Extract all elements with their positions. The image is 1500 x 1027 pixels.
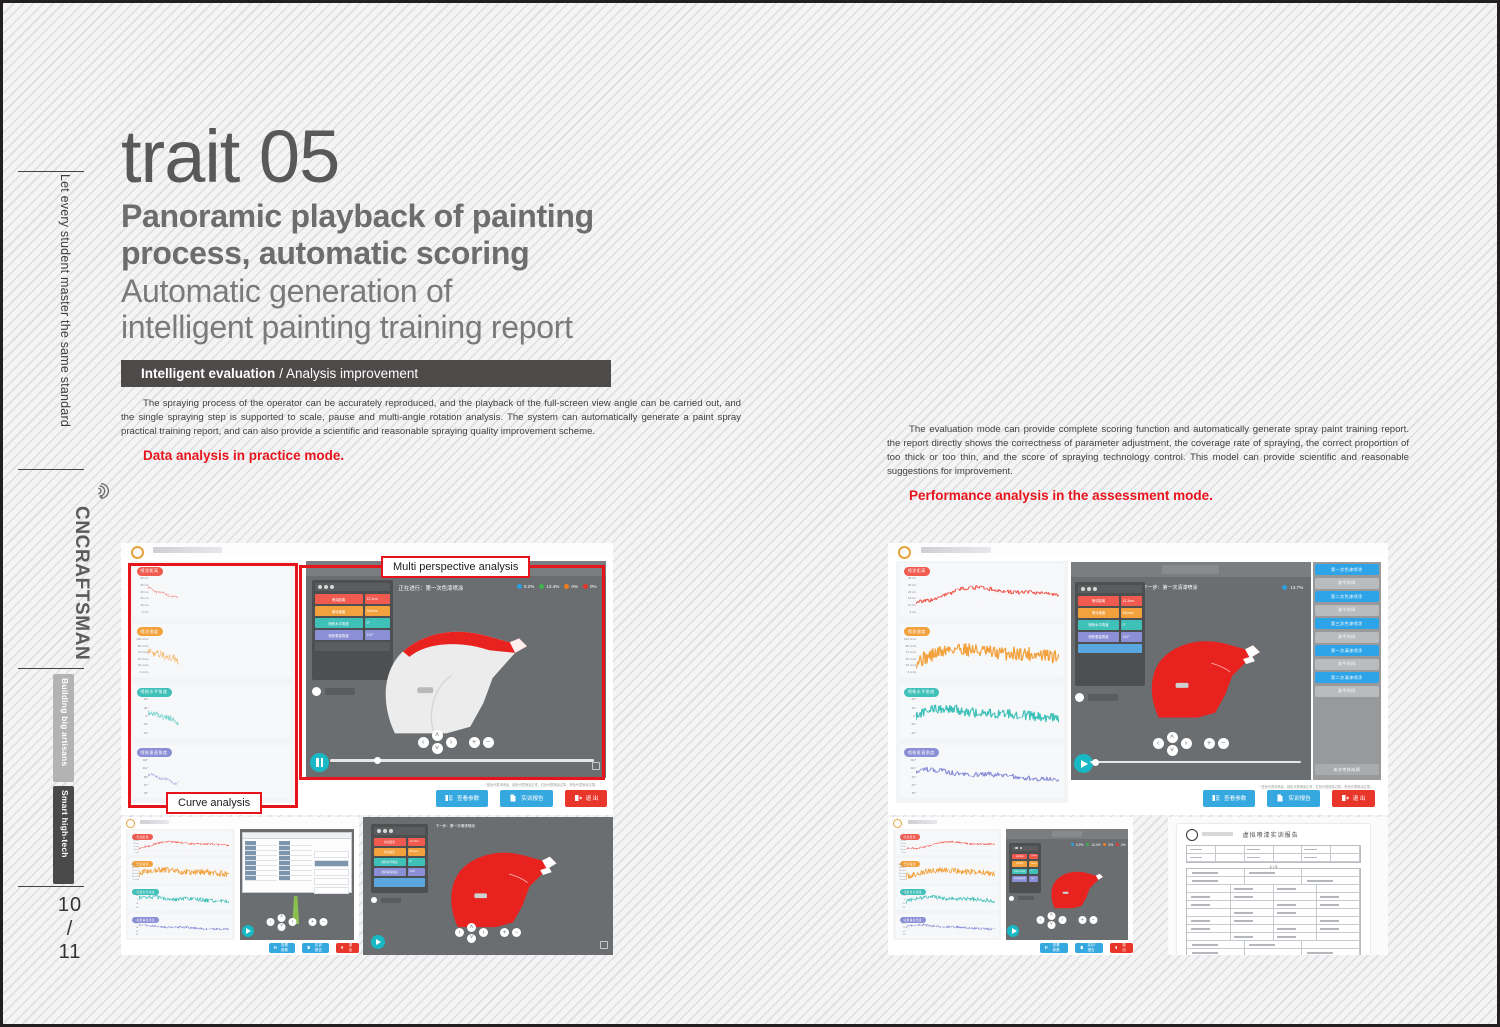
exit-icon [574, 794, 582, 802]
report-cell [1302, 854, 1331, 861]
panel-rows: 喷涂距离12.3cm喷涂速度60cm/s喷枪水平角度0°喷枪垂直角度102° [1012, 854, 1038, 882]
y-tick: 67° [130, 931, 139, 933]
parameter-key: 喷涂速度 [374, 848, 406, 856]
y-tick: 0 cm/s [130, 879, 139, 881]
y-tick: 15 cm [901, 596, 916, 600]
rotate-right-icon: › [1181, 738, 1192, 749]
report-cell [1302, 941, 1359, 948]
curve-panel-2: 喷枪水平角度40°20°0°-20°-40° [900, 685, 1064, 738]
curve-panel-label: 喷枪垂直角度 [904, 748, 939, 757]
step-button[interactable]: 流平时间 [1315, 578, 1379, 589]
parameter-row: 喷枪垂直角度102° [1012, 876, 1038, 882]
document-icon [307, 945, 310, 950]
report-row [1187, 941, 1359, 949]
curve-panel-3: 喷枪垂直角度110°112°90°67°45° [896, 914, 998, 938]
curve-y-axis: 40°20°0°-20°-40° [901, 697, 916, 734]
step-button[interactable]: 第一次清漆喷涂 [1315, 645, 1379, 656]
parameter-key: 喷涂距离 [1078, 596, 1118, 606]
play-button[interactable] [1074, 754, 1093, 773]
y-tick: 45° [901, 791, 916, 795]
report-cell [1231, 885, 1274, 892]
car-fender-model-painted[interactable] [428, 828, 573, 938]
exit-icon [1115, 945, 1118, 950]
report-cell [1231, 909, 1274, 916]
y-tick: 100 cm/s [130, 864, 139, 866]
report-cell [1317, 893, 1360, 900]
report-logo-icon [1186, 829, 1198, 841]
sidebar-badges: Building big artisans Smart high-tech [53, 674, 83, 888]
list-icon [445, 794, 453, 802]
step-button[interactable]: 流平时间 [1315, 686, 1379, 697]
parameter-key: 喷枪垂直角度 [1012, 876, 1027, 882]
play-button[interactable] [371, 935, 385, 949]
app-logo-icon [131, 546, 144, 559]
curve-panel-1: 喷涂速度100 cm/s80 cm/s70 cm/s50 cm/s20 cm/s… [896, 858, 998, 882]
report-cell [1245, 877, 1302, 884]
y-tick: 0° [130, 899, 139, 901]
rotate-left-icon: ‹ [1036, 916, 1044, 924]
y-tick: 20° [130, 895, 139, 897]
curve-y-axis: 110°112°90°67°45° [130, 919, 139, 936]
action-button-bar-practice[interactable]: 查看参数 实训报告 退 出 [436, 790, 608, 807]
report-row [1187, 909, 1359, 917]
viewer-footnote: * 蓝色代表未喷涂，绿色代表喷涂正常，红色代表喷涂过厚，黄色代表喷涂过薄。 [485, 782, 599, 787]
callout-multi-perspective: Multi perspective analysis [381, 556, 530, 578]
screenshot-assessment-thumb[interactable]: 喷涂距离30 cm25 cm20 cm15 cm10 cm5 cm喷涂速度100… [888, 817, 1133, 955]
app-titlebar [121, 817, 359, 828]
zoom-out-icon: − [512, 928, 521, 937]
highlight-box-viewer [299, 565, 605, 780]
y-tick: 70 cm/s [897, 870, 906, 872]
curve-analysis-panel[interactable]: 喷涂距离30 cm25 cm20 cm15 cm10 cm5 cm喷涂速度100… [126, 829, 235, 939]
table-row [314, 860, 349, 867]
report-cell [1187, 846, 1216, 853]
list-icon [1212, 794, 1220, 802]
zoom-in-icon: + [1204, 738, 1215, 749]
y-tick: 50 cm/s [130, 873, 139, 875]
exit-button[interactable]: 退 出 [1332, 790, 1375, 807]
headline-bold-line-1: Panoramic playback of painting [121, 198, 741, 235]
viewer-rotate-controls[interactable]: ‹ ˄ ˅ › + − [1153, 732, 1229, 756]
viewer-toolbar-title [1162, 565, 1220, 574]
screenshot-practice-mode[interactable]: 喷涂距离30 cm25 cm20 cm15 cm10 cm5 cm喷涂速度100… [121, 543, 613, 815]
page-divider: / [50, 918, 90, 942]
report-row [1187, 933, 1359, 941]
y-tick: 90° [130, 927, 139, 929]
screenshot-training-report[interactable]: 虚拟喷漆实训报告 1 / 5 [1168, 817, 1388, 955]
left-column: trait 05 Panoramic playback of painting … [121, 121, 741, 463]
report-row [1187, 949, 1359, 955]
curve-y-axis: 110°112°90°67°45° [897, 919, 906, 936]
curve-panel-0: 喷涂距离30 cm25 cm20 cm15 cm10 cm5 cm [900, 564, 1064, 617]
curve-analysis-panel[interactable]: 喷涂距离30 cm25 cm20 cm15 cm10 cm5 cm喷涂速度100… [893, 829, 1001, 939]
report-title: 虚拟喷漆实训报告 [1243, 830, 1299, 839]
section-banner: Intelligent evaluation / Analysis improv… [121, 360, 611, 387]
curve-panel-label: 喷枪水平角度 [904, 688, 939, 697]
document-icon [509, 794, 517, 802]
y-tick: 80 cm/s [897, 867, 906, 869]
rotate-left-icon: ‹ [267, 918, 275, 926]
report-cell [1231, 933, 1274, 940]
coverage-value: 13.7% [1290, 585, 1303, 590]
y-tick: 0 cm/s [897, 879, 906, 881]
y-tick: 0° [897, 899, 906, 901]
y-tick: 67° [901, 783, 916, 787]
report-cell [1187, 949, 1244, 955]
curve-plot [906, 865, 995, 881]
y-tick: 30 cm [130, 837, 139, 839]
curve-panel-label: 喷涂速度 [904, 627, 930, 636]
viewer-footnote: * 蓝色代表未喷涂，绿色代表喷涂正常，红色代表喷涂过厚，黄色代表喷涂过薄。 [1259, 784, 1373, 789]
report-cell [1302, 877, 1359, 884]
parameter-table-overlay[interactable] [242, 832, 352, 894]
report-detail-table [1186, 868, 1360, 955]
banner-rest: / Analysis improvement [279, 366, 418, 381]
parameter-value: 60cm/s [1029, 861, 1038, 867]
button-label: 查看参数 [457, 794, 479, 802]
parameter-row: 喷枪垂直角度102° [374, 868, 426, 876]
report-cell [1187, 933, 1230, 940]
exit-icon [1341, 794, 1349, 802]
rotate-up-icon: ˄ [278, 914, 286, 922]
headline-bold-line-2: process, automatic scoring [121, 235, 741, 272]
parameter-value: 12.3cm [1029, 854, 1038, 860]
table-row [314, 869, 349, 876]
report-cell [1317, 909, 1360, 916]
parameter-value: 102° [1029, 876, 1038, 882]
play-button[interactable] [1007, 925, 1019, 937]
table-row [314, 887, 349, 894]
curve-y-axis: 40°20°0°-20°-40° [130, 892, 139, 909]
page-number: 10 / 11 [50, 894, 90, 965]
y-tick: 10 cm [901, 603, 916, 607]
document-icon [1080, 945, 1084, 950]
curve-plot [916, 759, 1059, 794]
y-tick: 20° [897, 895, 906, 897]
3d-viewer-thumb[interactable]: 喷涂距离12.3cm喷涂速度60cm/s喷枪水平角度0°喷枪垂直角度102° 0… [1006, 829, 1129, 939]
curve-panel-1: 喷涂速度100 cm/s80 cm/s70 cm/s50 cm/s20 cm/s… [128, 858, 232, 882]
report-cell [1274, 909, 1317, 916]
sidebar-divider [18, 171, 84, 172]
curve-plot [906, 892, 995, 908]
table-row [279, 876, 311, 881]
rotate-down-icon: ˅ [1167, 745, 1178, 756]
curve-plot [139, 837, 229, 853]
y-tick: 15 cm [897, 846, 906, 848]
app-title [153, 547, 222, 552]
brand-block: CNCRAFTSMAN [46, 476, 92, 686]
rotate-up-icon: ˄ [1047, 912, 1055, 920]
view-parameters-button[interactable]: 查看参数 [1040, 943, 1068, 953]
y-tick: 80 cm/s [901, 644, 916, 648]
screenshot-assessment-mode[interactable]: 喷涂距离30 cm25 cm20 cm15 cm10 cm5 cm喷涂速度100… [888, 543, 1388, 815]
rotate-right-icon: › [289, 918, 297, 926]
step-button[interactable]: 流平时间 [1315, 659, 1379, 670]
curve-y-axis: 40°20°0°-20°-40° [897, 892, 906, 909]
sidebar-slogan: Let every student master the same standa… [58, 174, 72, 427]
poster-page: Let every student master the same standa… [0, 0, 1500, 1027]
step-button[interactable]: 第二次色漆喷涂 [1315, 591, 1379, 602]
parameter-key: 喷枪水平角度 [374, 858, 406, 866]
zoom-out-icon: − [1218, 738, 1229, 749]
report-row [1187, 854, 1359, 862]
fullscreen-icon[interactable] [600, 941, 608, 949]
report-cell [1245, 854, 1274, 861]
report-row [1187, 869, 1359, 877]
view-parameters-button[interactable]: 查看参数 [1203, 790, 1255, 807]
y-tick: 10 cm [130, 849, 139, 851]
report-cell [1231, 893, 1274, 900]
y-tick: 80 cm/s [130, 867, 139, 869]
y-tick: 0 cm/s [901, 670, 916, 674]
viewer-coverage-badge: 13.7% [1282, 585, 1303, 590]
y-tick: -20° [130, 903, 139, 905]
screenshot-parameter-table[interactable]: 喷涂距离30 cm25 cm20 cm15 cm10 cm5 cm喷涂速度100… [121, 817, 359, 955]
parameter-key: 喷涂距离 [374, 838, 406, 846]
y-tick: -40° [897, 907, 906, 909]
page-current: 10 [50, 894, 90, 918]
zoom-out-icon: − [320, 918, 328, 926]
scrubber-knob[interactable] [1092, 759, 1099, 766]
step-button[interactable]: 流平时间 [1315, 605, 1379, 616]
y-tick: 20 cm [130, 843, 139, 845]
swirl-logo-icon [90, 480, 112, 502]
exit-button[interactable]: 退 出 [1110, 943, 1133, 953]
button-label: 退 出 [1353, 794, 1366, 802]
rotate-down-icon: ˅ [1047, 921, 1055, 929]
badge-label: Building big artisans [60, 678, 70, 766]
y-tick: 67° [897, 931, 906, 933]
report-cell [1187, 877, 1244, 884]
report-cell [1187, 854, 1216, 861]
zoom-in-icon: + [1078, 916, 1086, 924]
step-button[interactable]: 第三次色漆喷涂 [1315, 618, 1379, 629]
zoom-in-icon: + [500, 928, 509, 937]
report-cell [1245, 846, 1274, 853]
app-title [921, 547, 991, 552]
curve-y-axis: 100 cm/s80 cm/s70 cm/s50 cm/s20 cm/s0 cm… [897, 864, 906, 881]
list-icon [1045, 945, 1049, 950]
curve-plot [139, 892, 229, 908]
report-cell [1274, 893, 1317, 900]
rotate-left-icon: ‹ [455, 928, 464, 937]
training-report-button[interactable]: 实训报告 [302, 943, 329, 953]
app-titlebar [888, 543, 1388, 558]
report-row [1187, 885, 1359, 893]
report-cell [1231, 917, 1274, 924]
y-tick: 40° [901, 697, 916, 701]
report-cell [1274, 846, 1303, 853]
report-row [1187, 917, 1359, 925]
parameter-row: 喷涂速度60cm/s [374, 848, 426, 856]
page-total: 11 [50, 941, 90, 965]
parameter-row: 喷涂距离12.3cm [1012, 854, 1038, 860]
rotate-down-icon: ˅ [467, 934, 476, 943]
report-document[interactable]: 虚拟喷漆实训报告 1 / 5 [1177, 824, 1371, 955]
report-row [1187, 893, 1359, 901]
report-cell [1187, 925, 1230, 932]
report-row [1187, 901, 1359, 909]
y-tick: -40° [130, 907, 139, 909]
report-cell [1331, 846, 1360, 853]
y-tick: 45° [897, 934, 906, 936]
y-tick: 5 cm [897, 852, 906, 854]
parameter-row: 喷枪水平角度0° [374, 858, 426, 866]
curve-panel-1: 喷涂速度100 cm/s80 cm/s70 cm/s50 cm/s20 cm/s… [900, 624, 1064, 677]
parameter-key: 喷涂距离 [1012, 854, 1027, 860]
report-cell [1302, 846, 1331, 853]
report-cell [1216, 854, 1245, 861]
report-cell [1317, 925, 1360, 932]
table-row [314, 851, 349, 858]
play-button[interactable] [242, 925, 254, 937]
report-cell [1274, 925, 1317, 932]
curve-plot [916, 698, 1059, 733]
curve-y-axis: 110°112°90°67°45° [901, 758, 916, 795]
rotate-right-icon: › [479, 928, 488, 937]
app-titlebar [121, 543, 613, 558]
button-label: 实训报告 [1288, 794, 1310, 802]
report-cell [1302, 949, 1359, 955]
parameter-key: 喷枪垂直角度 [1078, 632, 1118, 642]
button-label: 退 出 [586, 794, 599, 802]
y-tick: 30 cm [897, 837, 906, 839]
curve-y-axis: 30 cm25 cm20 cm15 cm10 cm5 cm [901, 576, 916, 613]
report-cell [1317, 885, 1360, 892]
report-row [1187, 877, 1359, 885]
y-tick: 25 cm [897, 840, 906, 842]
report-cell [1231, 901, 1274, 908]
curve-y-axis: 100 cm/s80 cm/s70 cm/s50 cm/s20 cm/s0 cm… [901, 637, 916, 674]
y-tick: 40° [130, 892, 139, 894]
left-paragraph: The spraying process of the operator can… [121, 397, 741, 439]
y-tick: 110° [901, 758, 916, 762]
curve-analysis-panel[interactable]: 喷涂距离30 cm25 cm20 cm15 cm10 cm5 cm喷涂速度100… [896, 561, 1069, 803]
panel-rows: 喷涂距离12.3cm喷涂速度60cm/s喷枪水平角度0°喷枪垂直角度102° [374, 838, 426, 876]
curve-panel-0: 喷涂距离30 cm25 cm20 cm15 cm10 cm5 cm [128, 831, 232, 855]
sidebar: Let every student master the same standa… [6, 6, 94, 1021]
y-tick: 20 cm/s [897, 876, 906, 878]
y-tick: 40° [897, 892, 906, 894]
car-fender-model-assessment[interactable] [1128, 592, 1277, 753]
zoom-in-icon: + [309, 918, 317, 926]
report-cell [1274, 854, 1303, 861]
step-list-sidebar[interactable]: 第一次色漆喷涂流平时间第二次色漆喷涂流平时间第三次色漆喷涂流平时间第一次清漆喷涂… [1313, 562, 1381, 780]
y-tick: 45° [130, 934, 139, 936]
3d-viewer-assessment[interactable]: 下一步：第一次清漆喷涂 13.7% 喷涂距离12.3cm喷涂速度60cm/s喷枪… [1071, 562, 1311, 780]
timeline-scrubber[interactable] [1090, 761, 1301, 764]
y-tick: 110° [897, 919, 906, 921]
y-tick: 20 cm [901, 590, 916, 594]
report-row [1187, 925, 1359, 933]
report-cell [1187, 893, 1230, 900]
parameter-key: 喷枪水平角度 [1078, 620, 1118, 630]
final-score-button[interactable]: 本次考核成绩 [1315, 764, 1379, 775]
parameter-row: 喷枪水平角度0° [1012, 869, 1038, 875]
record-icon [371, 897, 377, 903]
y-tick: 112° [901, 766, 916, 770]
step-button[interactable]: 第二次清漆喷涂 [1315, 672, 1379, 683]
exit-icon [341, 945, 344, 950]
report-cell [1317, 917, 1360, 924]
viewer-parameter-panel[interactable]: 喷涂距离12.3cm喷涂速度60cm/s喷枪水平角度0°喷枪垂直角度102° [371, 824, 429, 893]
view-parameters-button[interactable]: 查看参数 [436, 790, 488, 807]
report-cell [1274, 885, 1317, 892]
banner-strong: Intelligent evaluation [141, 366, 275, 381]
button-label: 实训报告 [521, 794, 543, 802]
report-cell [1187, 885, 1230, 892]
3d-viewer-spray[interactable]: ‹ ˄ ˅ › + − [240, 829, 354, 939]
curve-panel-0: 喷涂距离30 cm25 cm20 cm15 cm10 cm5 cm [896, 831, 998, 855]
report-cell [1317, 933, 1360, 940]
report-cell [1274, 933, 1317, 940]
brand-name: CNCRAFTSMAN [70, 506, 92, 660]
document-icon [1276, 794, 1284, 802]
parameter-row: 喷涂距离12.3cm [374, 838, 426, 846]
screenshot-fender-result[interactable]: 喷涂距离12.3cm喷涂速度60cm/s喷枪水平角度0°喷枪垂直角度102° 下… [363, 817, 613, 955]
report-cell [1274, 901, 1317, 908]
left-red-heading: Data analysis in practice mode. [121, 448, 741, 463]
y-tick: 100 cm/s [901, 637, 916, 641]
step-button[interactable]: 流平时间 [1315, 632, 1379, 643]
y-tick: 5 cm [130, 852, 139, 854]
table-row [314, 878, 349, 885]
right-paragraph: The evaluation mode can provide complete… [887, 423, 1409, 479]
report-cell [1331, 854, 1360, 861]
y-tick: 110° [130, 919, 139, 921]
view-parameters-button[interactable]: 查看参数 [269, 943, 296, 953]
action-button-bar-assessment[interactable]: 查看参数 实训报告 退 出 [1203, 790, 1375, 807]
badge-smart-high-tech: Smart high-tech [53, 786, 74, 884]
parameter-key: 喷涂速度 [1078, 608, 1118, 618]
parameter-row: 喷涂速度60cm/s [1012, 861, 1038, 867]
sidebar-divider [18, 469, 84, 470]
record-icon [1075, 693, 1084, 702]
report-cell [1317, 901, 1360, 908]
y-tick: 70 cm/s [901, 650, 916, 654]
y-tick: 20 cm/s [901, 663, 916, 667]
report-cell [1187, 909, 1230, 916]
rotate-left-icon: ‹ [1153, 738, 1164, 749]
training-report-button[interactable]: 实训报告 [500, 790, 552, 807]
y-tick: 90° [897, 927, 906, 929]
exit-button[interactable]: 退 出 [565, 790, 608, 807]
report-cell [1245, 869, 1302, 876]
y-tick: 50 cm/s [901, 657, 916, 661]
parameter-value: 0° [1029, 869, 1038, 875]
curve-panel-3: 喷枪垂直角度110°112°90°67°45° [900, 745, 1064, 798]
y-tick: 0° [901, 714, 916, 718]
trait-title: trait 05 [121, 121, 741, 192]
report-row [1187, 846, 1359, 854]
training-report-button[interactable]: 实训报告 [1267, 790, 1319, 807]
step-button[interactable]: 第一次色漆喷涂 [1315, 564, 1379, 575]
curve-plot [906, 837, 995, 853]
report-cell [1216, 846, 1245, 853]
highlight-box-curve [128, 563, 298, 808]
y-tick: 25 cm [130, 840, 139, 842]
exit-button[interactable]: 退 出 [336, 943, 359, 953]
training-report-button[interactable]: 实训报告 [1075, 943, 1103, 953]
zoom-out-icon: − [1089, 916, 1097, 924]
y-tick: -40° [901, 731, 916, 735]
curve-plot [139, 865, 229, 881]
list-icon [274, 945, 277, 950]
table-row [245, 876, 277, 881]
curve-panel-2: 喷枪水平角度40°20°0°-20°-40° [896, 886, 998, 910]
report-cell [1274, 917, 1317, 924]
report-brand [1202, 832, 1233, 836]
